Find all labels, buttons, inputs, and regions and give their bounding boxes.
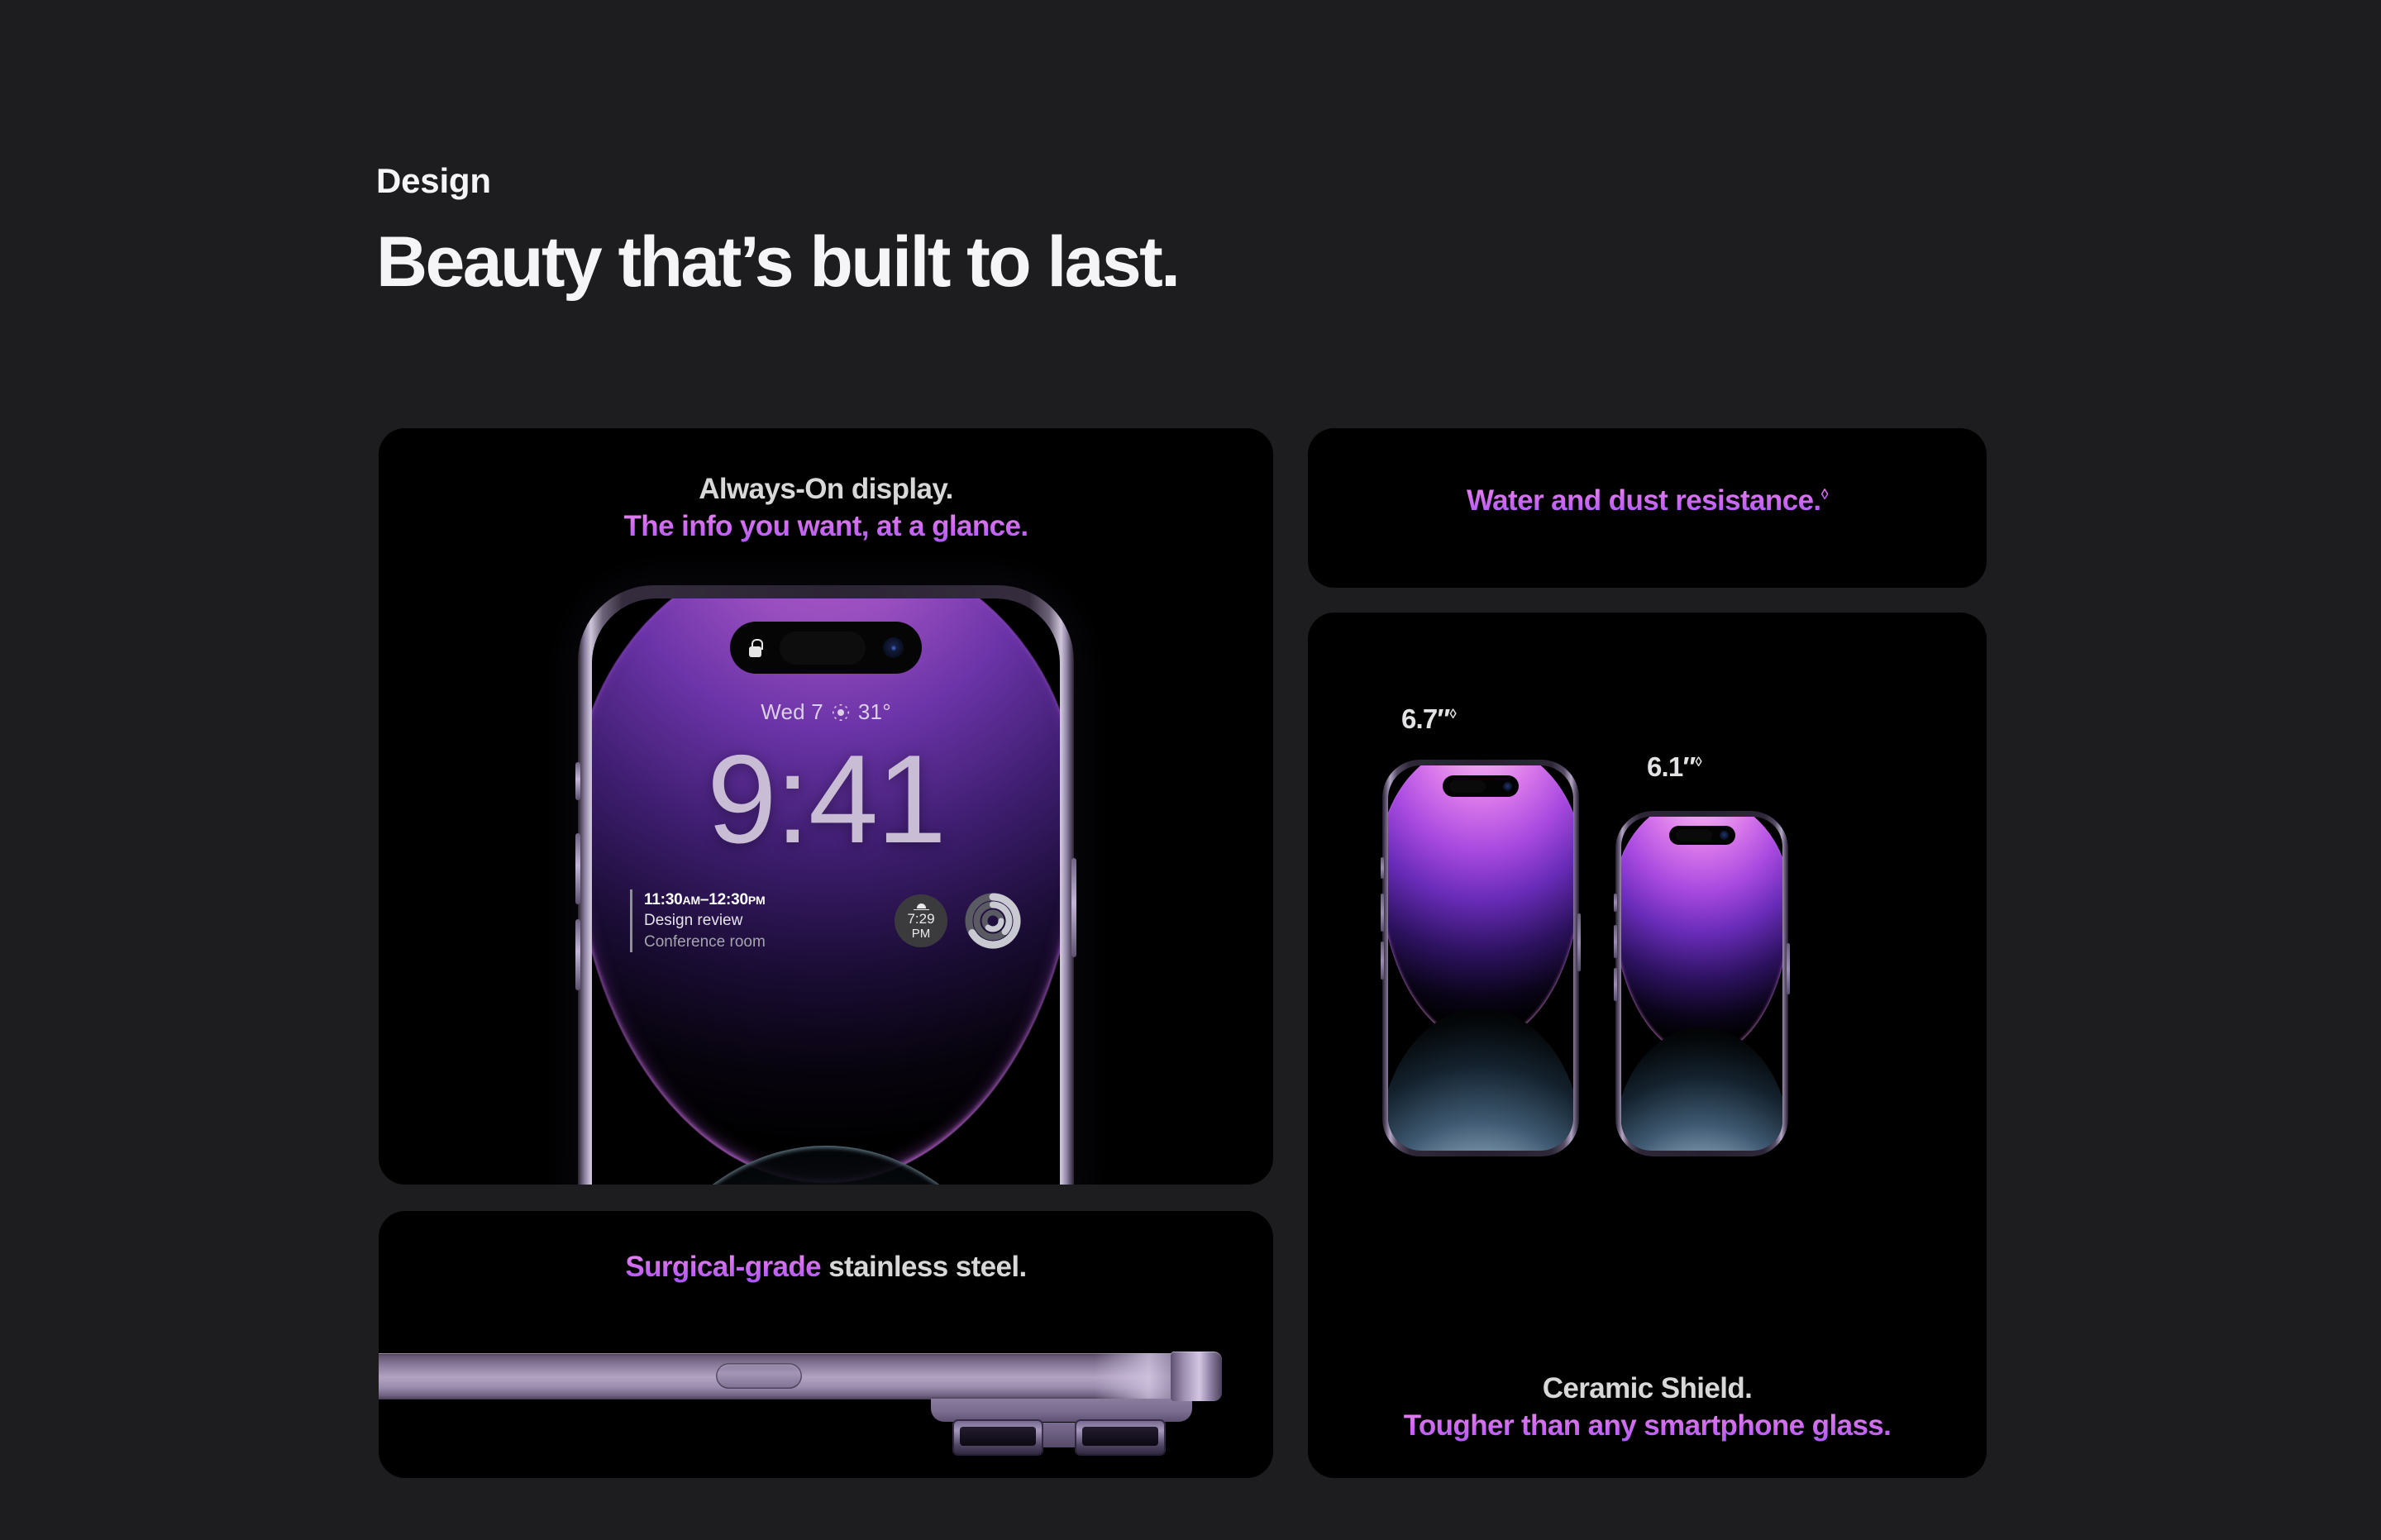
event-title: Design review [644, 910, 878, 931]
iphone-side-profile-art [379, 1353, 1220, 1452]
caption-line-1: Ceramic Shield. [1308, 1371, 1987, 1408]
section-header: Design Beauty that’s built to last. [376, 162, 1178, 299]
iphone-6-7-inch [1382, 760, 1579, 1156]
lock-icon [748, 639, 762, 657]
design-section-page: Design Beauty that’s built to last. Alwa… [0, 0, 2381, 1540]
volume-up-button [575, 833, 580, 904]
activity-rings-icon [964, 892, 1022, 950]
footnote-marker: ◊ [1821, 486, 1828, 503]
volume-down-button [1614, 968, 1617, 1001]
lockscreen-widget-row: 11:30AM–12:30PM Design review Conference… [630, 889, 1022, 952]
card-caption-ceramic-shield: Ceramic Shield. Tougher than any smartph… [1308, 1371, 1987, 1445]
volume-down-button [1381, 942, 1384, 980]
volume-button [716, 1363, 802, 1389]
card-stainless-steel[interactable]: Surgical-grade stainless steel. [379, 1211, 1273, 1478]
dynamic-island [730, 622, 922, 674]
size-label-6-7: 6.7″◊ [1401, 703, 1456, 735]
wallpaper-bottom-dome [1621, 1027, 1782, 1151]
wallpaper-top-dome [1388, 765, 1573, 1043]
mute-switch [575, 762, 580, 800]
volume-down-button [575, 919, 580, 990]
sunset-time: 7:29 [907, 912, 934, 927]
camera-lens-2 [1075, 1419, 1166, 1456]
caption-plain: stainless steel. [821, 1251, 1027, 1283]
wallpaper-top-dome [1621, 817, 1782, 1057]
side-button [1787, 943, 1790, 994]
footnote-marker: ◊ [1449, 707, 1455, 722]
front-camera-icon [883, 637, 904, 658]
wallpaper-bottom-dome [601, 1146, 1050, 1185]
phone-size-comparison: 6.7″◊ 6.1″◊ [1308, 613, 1987, 1478]
island-speaker-slot [1676, 829, 1712, 842]
section-eyebrow: Design [376, 162, 1178, 200]
card-water-dust-resistance[interactable]: Water and dust resistance.◊ [1308, 428, 1987, 588]
phone-screen: Wed 7 31° 9:41 11:30AM–12:30PM Design re… [592, 598, 1060, 1185]
caption-text: Water and dust resistance. [1467, 484, 1821, 517]
caption-line-2: Tougher than any smartphone glass. [1308, 1408, 1987, 1445]
camera-lens-1 [952, 1419, 1043, 1456]
phone-screen [1388, 765, 1573, 1151]
page-title: Beauty that’s built to last. [376, 225, 1178, 299]
dynamic-island [1443, 775, 1519, 797]
wallpaper-bottom-dome [1388, 1008, 1573, 1151]
caption-accent: Surgical-grade [625, 1251, 821, 1283]
sunset-meridiem: PM [912, 927, 931, 941]
lockscreen-clock: 9:41 [592, 721, 1060, 878]
feature-card-grid: Always-On display. The info you want, at… [379, 428, 1987, 1478]
volume-up-button [1381, 894, 1384, 932]
footnote-marker: ◊ [1695, 755, 1701, 770]
island-speaker-slot [780, 632, 866, 665]
mute-switch [1614, 894, 1617, 912]
card-caption-water-dust: Water and dust resistance.◊ [1308, 483, 1987, 520]
activity-rings-widget[interactable] [964, 892, 1022, 950]
calendar-event-widget[interactable]: 11:30AM–12:30PM Design review Conference… [630, 889, 878, 952]
camera-plateau [931, 1399, 1192, 1422]
sun-icon [833, 704, 849, 721]
caption-line-2: The info you want, at a glance. [379, 508, 1273, 546]
lens-bridge [1042, 1423, 1078, 1447]
island-speaker-slot [1449, 780, 1486, 793]
iphone-6-1-inch [1615, 811, 1788, 1156]
side-button [1071, 858, 1076, 957]
iphone-hero-front: Wed 7 31° 9:41 11:30AM–12:30PM Design re… [578, 585, 1074, 1185]
event-time: 11:30AM–12:30PM [644, 889, 878, 910]
volume-up-button [1614, 925, 1617, 958]
card-always-on-display[interactable]: Always-On display. The info you want, at… [379, 428, 1273, 1185]
front-camera-icon [1720, 831, 1729, 840]
front-camera-icon [1503, 782, 1512, 791]
dynamic-island [1669, 826, 1735, 845]
card-ceramic-shield[interactable]: 6.7″◊ 6.1″◊ [1308, 613, 1987, 1478]
sunset-widget[interactable]: 7:29 PM [895, 894, 947, 947]
phone-screen [1621, 817, 1782, 1151]
caption-line-1: Always-On display. [379, 471, 1273, 508]
corner-edge-cap [1171, 1352, 1222, 1401]
size-label-6-1: 6.1″◊ [1647, 751, 1701, 783]
mute-switch [1381, 857, 1384, 879]
sunset-icon [914, 901, 929, 910]
event-location: Conference room [644, 932, 878, 952]
side-button [1577, 913, 1581, 971]
card-caption-stainless-steel: Surgical-grade stainless steel. [379, 1249, 1273, 1286]
card-caption-always-on: Always-On display. The info you want, at… [379, 471, 1273, 546]
